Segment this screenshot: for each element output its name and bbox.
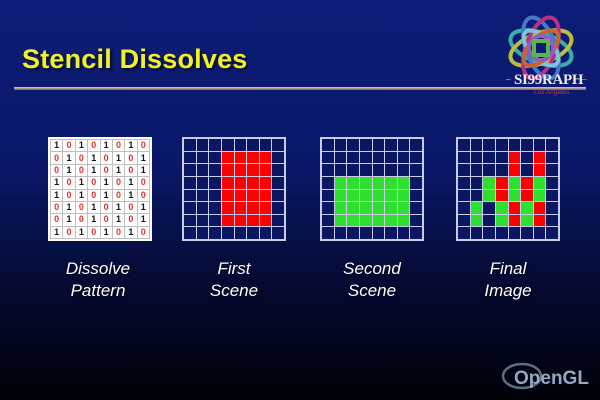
scene-cell <box>483 177 495 189</box>
scene-cell <box>496 177 508 189</box>
pattern-cell: 1 <box>113 214 124 225</box>
scene-cell <box>184 215 196 227</box>
scene-cell <box>347 202 359 214</box>
pattern-cell: 1 <box>76 227 87 238</box>
scene-cell <box>410 177 422 189</box>
scene-cell <box>360 202 372 214</box>
scene-cell <box>458 164 470 176</box>
scene-cell <box>235 202 247 214</box>
scene-cell <box>247 139 259 151</box>
opengl-logo: OpenGL . <box>500 360 592 392</box>
scene-cell <box>534 190 546 202</box>
scene-cell <box>373 152 385 164</box>
scene-cell <box>347 177 359 189</box>
scene-cell <box>322 139 334 151</box>
caption-line-1: Dissolve <box>23 258 173 280</box>
scene-cell <box>197 139 209 151</box>
scene-cell <box>222 190 234 202</box>
scene-cell <box>184 202 196 214</box>
scene-cell <box>398 139 410 151</box>
pattern-cell: 1 <box>76 177 87 188</box>
scene-cell <box>247 227 259 239</box>
scene-cell <box>184 190 196 202</box>
siggraph-dash-left: – <box>505 74 511 84</box>
pattern-cell: 1 <box>51 227 62 238</box>
scene-cell <box>458 227 470 239</box>
scene-cell <box>322 202 334 214</box>
pattern-cell: 0 <box>125 202 136 213</box>
scene-cell <box>509 202 521 214</box>
scene-cell <box>521 227 533 239</box>
scene-cell <box>546 215 558 227</box>
pattern-cell: 1 <box>51 177 62 188</box>
scene-cell <box>209 152 221 164</box>
siggraph-logo: – SI99RAPH – Los Angeles <box>486 8 596 104</box>
scene-cell <box>235 190 247 202</box>
scene-cell <box>222 164 234 176</box>
pattern-cell: 0 <box>88 190 99 201</box>
scene-cell <box>260 139 272 151</box>
opengl-trademark: . <box>584 375 587 387</box>
scene-cell <box>197 215 209 227</box>
scene-cell <box>483 139 495 151</box>
scene-cell <box>197 190 209 202</box>
dissolve-pattern-grid: 1010101001010101010101011010101010101010… <box>48 137 152 241</box>
scene-cell <box>373 202 385 214</box>
scene-cell <box>373 190 385 202</box>
scene-cell <box>471 215 483 227</box>
scene-cell <box>521 215 533 227</box>
scene-cell <box>385 152 397 164</box>
pattern-cell: 0 <box>51 202 62 213</box>
scene-cell <box>496 152 508 164</box>
scene-cell <box>260 190 272 202</box>
pattern-cell: 1 <box>63 202 74 213</box>
pattern-cell: 0 <box>113 190 124 201</box>
scene-cell <box>209 190 221 202</box>
scene-cell <box>496 227 508 239</box>
pattern-cell: 0 <box>125 152 136 163</box>
scene-cell <box>471 164 483 176</box>
pattern-cell: 1 <box>101 140 112 151</box>
scene-cell <box>260 177 272 189</box>
pattern-cell: 0 <box>125 214 136 225</box>
scene-cell <box>385 202 397 214</box>
pattern-cell: 0 <box>113 140 124 151</box>
scene-cell <box>235 164 247 176</box>
caption-first-scene: First Scene <box>159 258 309 302</box>
scene-cell <box>335 164 347 176</box>
pattern-cell: 0 <box>76 214 87 225</box>
figure-dissolve-pattern: 1010101001010101010101011010101010101010… <box>48 137 152 241</box>
scene-cell <box>471 190 483 202</box>
pattern-cell: 1 <box>88 152 99 163</box>
scene-cell <box>335 202 347 214</box>
scene-cell <box>410 152 422 164</box>
pattern-cell: 0 <box>138 190 149 201</box>
scene-cell <box>260 202 272 214</box>
siggraph-wordmark: SI99RAPH <box>514 72 584 88</box>
pattern-cell: 1 <box>88 202 99 213</box>
caption-line-1: First <box>159 258 309 280</box>
scene-cell <box>410 215 422 227</box>
scene-cell <box>335 190 347 202</box>
scene-cell <box>398 215 410 227</box>
scene-cell <box>260 227 272 239</box>
scene-cell <box>521 152 533 164</box>
scene-cell <box>410 139 422 151</box>
scene-cell <box>272 177 284 189</box>
pattern-cell: 1 <box>138 165 149 176</box>
scene-cell <box>410 227 422 239</box>
scene-cell <box>209 164 221 176</box>
pattern-cell: 0 <box>63 140 74 151</box>
scene-cell <box>272 227 284 239</box>
scene-cell <box>272 139 284 151</box>
scene-cell <box>222 152 234 164</box>
scene-cell <box>360 227 372 239</box>
scene-cell <box>483 152 495 164</box>
scene-cell <box>247 177 259 189</box>
scene-cell <box>347 215 359 227</box>
pattern-cell: 1 <box>125 190 136 201</box>
scene-cell <box>335 152 347 164</box>
scene-cell <box>335 177 347 189</box>
scene-cell <box>347 227 359 239</box>
pattern-cell: 0 <box>76 202 87 213</box>
pattern-cell: 0 <box>101 214 112 225</box>
pattern-cell: 0 <box>88 227 99 238</box>
scene-cell <box>197 227 209 239</box>
scene-cell <box>322 152 334 164</box>
scene-cell <box>398 190 410 202</box>
scene-cell <box>360 139 372 151</box>
pattern-cell: 0 <box>138 140 149 151</box>
scene-cell <box>272 190 284 202</box>
pattern-cell: 0 <box>51 152 62 163</box>
scene-cell <box>209 202 221 214</box>
scene-cell <box>272 152 284 164</box>
scene-cell <box>483 164 495 176</box>
scene-cell <box>546 202 558 214</box>
scene-cell <box>347 190 359 202</box>
scene-cell <box>322 215 334 227</box>
pattern-cell: 1 <box>138 214 149 225</box>
scene-cell <box>197 202 209 214</box>
scene-cell <box>546 139 558 151</box>
caption-line-2: Image <box>433 280 583 302</box>
caption-final-image: Final Image <box>433 258 583 302</box>
pattern-cell: 0 <box>101 202 112 213</box>
caption-line-1: Second <box>297 258 447 280</box>
pattern-cell: 1 <box>125 177 136 188</box>
first-scene-grid <box>182 137 286 241</box>
scene-cell <box>410 190 422 202</box>
scene-cell <box>347 139 359 151</box>
scene-cell <box>509 215 521 227</box>
scene-cell <box>222 177 234 189</box>
scene-cell <box>184 152 196 164</box>
figure-second-scene <box>320 137 424 241</box>
scene-cell <box>534 177 546 189</box>
scene-cell <box>521 164 533 176</box>
scene-cell <box>534 139 546 151</box>
pattern-cell: 1 <box>101 190 112 201</box>
pattern-cell: 1 <box>138 152 149 163</box>
pattern-cell: 0 <box>76 165 87 176</box>
scene-cell <box>546 190 558 202</box>
pattern-cell: 1 <box>113 165 124 176</box>
pattern-cell: 1 <box>101 227 112 238</box>
scene-cell <box>260 152 272 164</box>
scene-cell <box>509 139 521 151</box>
scene-cell <box>471 139 483 151</box>
scene-cell <box>247 202 259 214</box>
figure-final-image <box>456 137 560 241</box>
scene-cell <box>322 227 334 239</box>
scene-cell <box>373 164 385 176</box>
scene-cell <box>209 227 221 239</box>
scene-cell <box>373 215 385 227</box>
scene-cell <box>521 139 533 151</box>
scene-cell <box>197 177 209 189</box>
pattern-cell: 0 <box>138 227 149 238</box>
scene-cell <box>546 177 558 189</box>
scene-cell <box>471 227 483 239</box>
pattern-cell: 0 <box>63 190 74 201</box>
caption-line-2: Scene <box>159 280 309 302</box>
scene-cell <box>534 227 546 239</box>
scene-cell <box>534 152 546 164</box>
scene-cell <box>521 177 533 189</box>
scene-cell <box>385 164 397 176</box>
scene-cell <box>534 202 546 214</box>
scene-cell <box>385 139 397 151</box>
scene-cell <box>322 190 334 202</box>
scene-cell <box>184 139 196 151</box>
scene-cell <box>260 164 272 176</box>
caption-line-1: Final <box>433 258 583 280</box>
pattern-cell: 0 <box>101 152 112 163</box>
scene-cell <box>235 227 247 239</box>
pattern-cell: 1 <box>88 165 99 176</box>
scene-cell <box>509 177 521 189</box>
scene-cell <box>373 227 385 239</box>
pattern-cell: 1 <box>101 177 112 188</box>
scene-cell <box>247 215 259 227</box>
siggraph-dash-right: – <box>581 74 587 84</box>
pattern-cell: 0 <box>63 177 74 188</box>
pattern-cell: 1 <box>125 140 136 151</box>
pattern-cell: 1 <box>113 202 124 213</box>
scene-cell <box>235 177 247 189</box>
pattern-cell: 0 <box>125 165 136 176</box>
scene-cell <box>398 164 410 176</box>
pattern-cell: 0 <box>88 177 99 188</box>
pattern-cell: 1 <box>63 214 74 225</box>
pattern-cell: 0 <box>51 214 62 225</box>
opengl-wordmark: OpenGL <box>514 368 589 389</box>
scene-cell <box>471 202 483 214</box>
pattern-cell: 0 <box>51 165 62 176</box>
scene-cell <box>222 215 234 227</box>
scene-cell <box>496 202 508 214</box>
pattern-cell: 1 <box>63 165 74 176</box>
scene-cell <box>347 164 359 176</box>
scene-cell <box>546 227 558 239</box>
scene-cell <box>521 190 533 202</box>
scene-cell <box>247 164 259 176</box>
scene-cell <box>398 152 410 164</box>
page-title: Stencil Dissolves <box>22 44 248 75</box>
scene-cell <box>410 202 422 214</box>
scene-cell <box>385 215 397 227</box>
scene-cell <box>347 152 359 164</box>
pattern-cell: 0 <box>63 227 74 238</box>
scene-cell <box>483 227 495 239</box>
scene-cell <box>260 215 272 227</box>
scene-cell <box>247 190 259 202</box>
scene-cell <box>546 152 558 164</box>
scene-cell <box>509 164 521 176</box>
scene-cell <box>209 139 221 151</box>
scene-cell <box>546 164 558 176</box>
caption-line-2: Pattern <box>23 280 173 302</box>
pattern-cell: 1 <box>63 152 74 163</box>
scene-cell <box>458 139 470 151</box>
pattern-cell: 0 <box>88 140 99 151</box>
scene-cell <box>222 202 234 214</box>
scene-cell <box>458 152 470 164</box>
second-scene-grid <box>320 137 424 241</box>
siggraph-subtitle: Los Angeles <box>534 89 570 96</box>
scene-cell <box>458 177 470 189</box>
scene-cell <box>235 139 247 151</box>
scene-cell <box>322 164 334 176</box>
scene-cell <box>385 227 397 239</box>
scene-cell <box>209 215 221 227</box>
scene-cell <box>235 152 247 164</box>
scene-cell <box>398 177 410 189</box>
scene-cell <box>410 164 422 176</box>
scene-cell <box>360 164 372 176</box>
scene-cell <box>534 164 546 176</box>
scene-cell <box>509 190 521 202</box>
pattern-cell: 0 <box>101 165 112 176</box>
scene-cell <box>197 152 209 164</box>
pattern-cell: 0 <box>113 177 124 188</box>
scene-cell <box>483 215 495 227</box>
scene-cell <box>496 164 508 176</box>
scene-cell <box>360 215 372 227</box>
pattern-cell: 0 <box>138 177 149 188</box>
scene-cell <box>222 139 234 151</box>
scene-cell <box>471 177 483 189</box>
scene-cell <box>496 139 508 151</box>
pattern-cell: 1 <box>113 152 124 163</box>
figure-first-scene <box>182 137 286 241</box>
pattern-cell: 0 <box>76 152 87 163</box>
pattern-cell: 1 <box>125 227 136 238</box>
scene-cell <box>335 215 347 227</box>
scene-cell <box>360 190 372 202</box>
scene-cell <box>509 152 521 164</box>
pattern-cell: 0 <box>113 227 124 238</box>
scene-cell <box>483 190 495 202</box>
caption-second-scene: Second Scene <box>297 258 447 302</box>
pattern-cell: 1 <box>76 140 87 151</box>
pattern-cell: 1 <box>88 214 99 225</box>
scene-cell <box>534 215 546 227</box>
scene-cell <box>209 177 221 189</box>
scene-cell <box>272 215 284 227</box>
scene-cell <box>360 177 372 189</box>
scene-cell <box>471 152 483 164</box>
pattern-cell: 1 <box>138 202 149 213</box>
scene-cell <box>398 202 410 214</box>
scene-cell <box>247 152 259 164</box>
scene-cell <box>458 215 470 227</box>
scene-cell <box>398 227 410 239</box>
scene-cell <box>184 227 196 239</box>
scene-cell <box>272 202 284 214</box>
scene-cell <box>235 215 247 227</box>
scene-cell <box>385 177 397 189</box>
scene-cell <box>322 177 334 189</box>
caption-dissolve-pattern: Dissolve Pattern <box>23 258 173 302</box>
scene-cell <box>373 177 385 189</box>
final-image-grid <box>456 137 560 241</box>
scene-cell <box>184 164 196 176</box>
scene-cell <box>335 139 347 151</box>
pattern-cell: 1 <box>76 190 87 201</box>
scene-cell <box>335 227 347 239</box>
scene-cell <box>458 190 470 202</box>
scene-cell <box>360 152 372 164</box>
scene-cell <box>222 227 234 239</box>
pattern-cell: 1 <box>51 140 62 151</box>
scene-cell <box>521 202 533 214</box>
scene-cell <box>272 164 284 176</box>
slide-canvas: Stencil Dissolves – SI99RAPH – Los Angel… <box>0 0 600 400</box>
pattern-cell: 1 <box>51 190 62 201</box>
scene-cell <box>509 227 521 239</box>
caption-line-2: Scene <box>297 280 447 302</box>
scene-cell <box>496 215 508 227</box>
scene-cell <box>483 202 495 214</box>
scene-cell <box>496 190 508 202</box>
scene-cell <box>458 202 470 214</box>
scene-cell <box>184 177 196 189</box>
scene-cell <box>197 164 209 176</box>
scene-cell <box>373 139 385 151</box>
scene-cell <box>385 190 397 202</box>
